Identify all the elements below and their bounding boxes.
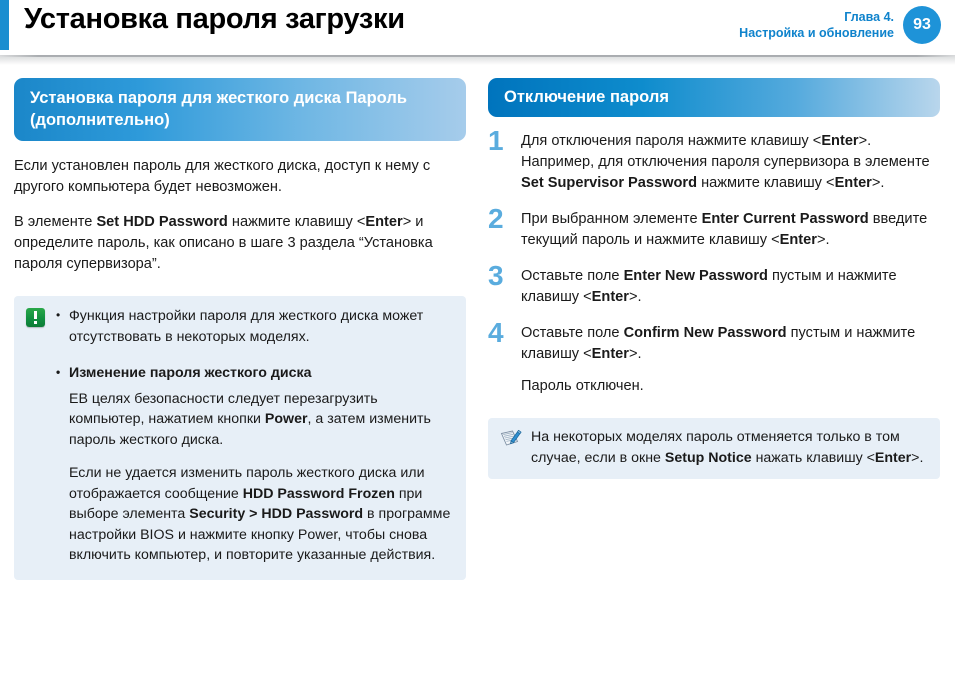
left-note-bullet-2: Изменение пароля жесткого диска ЕВ целях… — [54, 363, 452, 566]
step4-text-3: >. — [629, 346, 642, 362]
step-text: Оставьте поле Enter New Password пустым … — [521, 266, 940, 308]
left-note-b2p1-bold-power: Power — [265, 411, 308, 427]
chapter-line-2: Настройка и обновление — [739, 25, 894, 41]
right-note-text: На некоторых моделях пароль отменяется т… — [531, 427, 926, 468]
right-column: Отключение пароля 1 Для отключения парол… — [488, 78, 940, 580]
right-note-box: На некоторых моделях пароль отменяется т… — [488, 418, 940, 479]
right-note-text-3: >. — [911, 450, 923, 466]
step4-text-1: Оставьте поле — [521, 325, 624, 341]
right-note-bold-setup-notice: Setup Notice — [665, 450, 752, 466]
step3-text-3: >. — [629, 289, 642, 305]
step2-text-1: При выбранном элементе — [521, 211, 702, 227]
step4-bold-confirm-new-password: Confirm New Password — [624, 325, 787, 341]
chapter-label: Глава 4. Настройка и обновление — [739, 9, 894, 41]
left-note-b2p2-bold-security-hdd-password: Security > HDD Password — [189, 506, 363, 522]
left-paragraph-2: В элементе Set HDD Password нажмите клав… — [14, 212, 466, 275]
step1-text-1: Для отключения пароля нажмите клавишу < — [521, 133, 821, 149]
left-p2-bold-enter: Enter — [365, 214, 402, 230]
step-text: Для отключения пароля нажмите клавишу <E… — [521, 131, 940, 194]
step2-bold-enter: Enter — [780, 232, 817, 248]
chapter-line-1: Глава 4. — [739, 9, 894, 25]
step2-text-3: >. — [817, 232, 830, 248]
content-columns: Установка пароля для жесткого диска Паро… — [0, 78, 955, 580]
step1-bold-set-supervisor-password: Set Supervisor Password — [521, 175, 697, 191]
step4-bold-enter: Enter — [592, 346, 629, 362]
step4-result-text: Пароль отключен. — [521, 376, 940, 397]
step2-bold-enter-current-password: Enter Current Password — [702, 211, 869, 227]
step-item: 1 Для отключения пароля нажмите клавишу … — [488, 131, 940, 194]
left-section-heading: Установка пароля для жесткого диска Паро… — [14, 78, 466, 141]
step-item: 3 Оставьте поле Enter New Password пусты… — [488, 266, 940, 308]
step-item: 4 Оставьте поле Confirm New Password пус… — [488, 323, 940, 397]
step-number: 1 — [488, 127, 510, 154]
left-p2-bold-set-hdd-password: Set HDD Password — [96, 214, 227, 230]
step-number: 4 — [488, 319, 510, 346]
left-note-bullet-2-para-1: ЕВ целях безопасности следует перезагруз… — [69, 389, 452, 451]
left-note-list: Функция настройки пароля для жесткого ди… — [54, 306, 452, 566]
left-note-bullet-1: Функция настройки пароля для жесткого ди… — [54, 306, 452, 347]
step3-bold-enter: Enter — [592, 289, 629, 305]
right-section-heading: Отключение пароля — [488, 78, 940, 117]
memo-pencil-icon — [500, 428, 522, 449]
page-number-badge: 93 — [903, 6, 941, 44]
left-note-bullet-2-para-2: Если не удается изменить пароль жесткого… — [69, 463, 452, 566]
step3-bold-enter-new-password: Enter New Password — [624, 268, 768, 284]
left-note-box: Функция настройки пароля для жесткого ди… — [14, 296, 466, 580]
step-text: При выбранном элементе Enter Current Pas… — [521, 209, 940, 251]
step1-bold-enter-1: Enter — [821, 133, 858, 149]
left-paragraph-1: Если установлен пароль для жесткого диск… — [14, 156, 466, 198]
right-note-bold-enter: Enter — [875, 450, 911, 466]
left-note-b2p2-bold-hdd-password-frozen: HDD Password Frozen — [243, 486, 395, 502]
step1-text-3: нажмите клавишу < — [697, 175, 835, 191]
page-header: Установка пароля загрузки Глава 4. Настр… — [0, 0, 955, 55]
step-item: 2 При выбранном элементе Enter Current P… — [488, 209, 940, 251]
step-number: 3 — [488, 262, 510, 289]
step1-text-4: >. — [872, 175, 885, 191]
warning-exclamation-icon — [26, 308, 45, 327]
left-note-body: Функция настройки пароля для жесткого ди… — [54, 306, 452, 566]
header-chapter-area: Глава 4. Настройка и обновление 93 — [739, 6, 941, 44]
page-title: Установка пароля загрузки — [24, 3, 405, 36]
header-accent-bar — [0, 0, 9, 50]
left-p2-text-2: нажмите клавишу < — [228, 214, 366, 230]
left-note-bullet-2-title: Изменение пароля жесткого диска — [69, 365, 311, 381]
step-number: 2 — [488, 205, 510, 232]
step1-bold-enter-2: Enter — [835, 175, 872, 191]
left-p2-text-1: В элементе — [14, 214, 96, 230]
step3-text-1: Оставьте поле — [521, 268, 624, 284]
left-column: Установка пароля для жесткого диска Паро… — [14, 78, 466, 580]
step-text: Оставьте поле Confirm New Password пусты… — [521, 323, 940, 397]
header-divider — [0, 55, 955, 65]
steps-list: 1 Для отключения пароля нажмите клавишу … — [488, 131, 940, 397]
right-note-text-2: нажать клавишу < — [752, 450, 875, 466]
